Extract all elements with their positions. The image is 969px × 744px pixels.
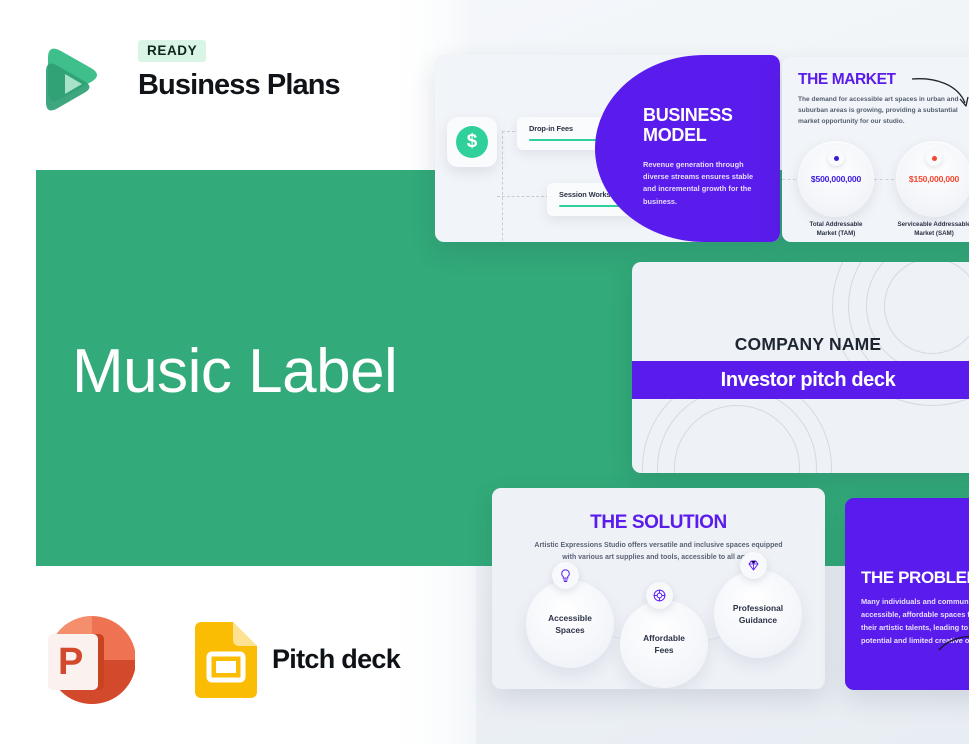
brand-name: Business Plans <box>138 69 340 102</box>
company-name: COMPANY NAME <box>632 334 969 355</box>
solution-item-label: AccessibleSpaces <box>526 612 614 636</box>
slide-problem[interactable]: THE PROBLEM Many individuals and communi… <box>845 498 969 690</box>
dollar-coin-icon: $ <box>447 117 497 167</box>
business-model-title: BUSINESSMODEL <box>643 105 733 146</box>
solution-item-label: AffordableFees <box>620 632 708 656</box>
lightbulb-icon <box>552 562 579 589</box>
format-label: Pitch deck <box>272 644 400 675</box>
dial-knob <box>828 150 844 166</box>
dial-caption: Total AddressableMarket (TAM) <box>786 221 886 239</box>
connector-vertical <box>502 131 503 242</box>
dial-tam[interactable]: $500,000,000 <box>798 141 874 217</box>
ready-badge: READY <box>138 40 206 62</box>
solution-item[interactable]: ProfessionalGuidance <box>714 570 802 658</box>
dollar-symbol: $ <box>456 126 488 158</box>
diamond-icon <box>740 552 767 579</box>
solution-item[interactable]: AccessibleSpaces <box>526 580 614 668</box>
dial-value: $500,000,000 <box>798 174 874 184</box>
investor-pitch-deck-bar: Investor pitch deck <box>632 361 969 399</box>
slide-business-model[interactable]: $ Drop-in Fees Session Workshops Commiss… <box>435 55 780 242</box>
dial-value: $150,000,000 <box>896 174 969 184</box>
brand-text-block: READY Business Plans <box>138 40 340 102</box>
slide-solution[interactable]: THE SOLUTION Artistic Expressions Studio… <box>492 488 825 689</box>
powerpoint-icon: P <box>40 614 135 706</box>
play-triangle-logo-icon <box>40 38 106 118</box>
format-row: P Pitch deck <box>40 614 440 706</box>
solution-title: THE SOLUTION <box>492 512 825 534</box>
dial-sam[interactable]: $150,000,000 <box>896 141 969 217</box>
brand-logo[interactable]: READY Business Plans <box>40 36 370 122</box>
target-icon <box>646 582 673 609</box>
problem-title: THE PROBLEM <box>861 568 969 588</box>
investor-pitch-deck-label: Investor pitch deck <box>632 361 969 399</box>
solution-item[interactable]: AffordableFees <box>620 600 708 688</box>
google-slides-icon <box>195 622 257 698</box>
market-dials: $500,000,000 Total AddressableMarket (TA… <box>792 141 969 217</box>
dial-knob <box>926 150 942 166</box>
page-title: Music Label <box>72 338 397 406</box>
slide-company-name[interactable]: COMPANY NAME Investor pitch deck <box>632 262 969 473</box>
swoosh-icon <box>937 628 969 656</box>
slide-market[interactable]: THE MARKET The demand for accessible art… <box>782 57 969 242</box>
connector-middle <box>497 196 549 197</box>
dial-caption: Serviceable AddressableMarket (SAM) <box>884 221 969 239</box>
market-body: The demand for accessible art spaces in … <box>798 95 966 128</box>
svg-text:P: P <box>58 641 83 683</box>
market-title: THE MARKET <box>798 71 896 89</box>
business-model-body: Revenue generation through diverse strea… <box>643 159 767 208</box>
solution-item-label: ProfessionalGuidance <box>714 602 802 626</box>
